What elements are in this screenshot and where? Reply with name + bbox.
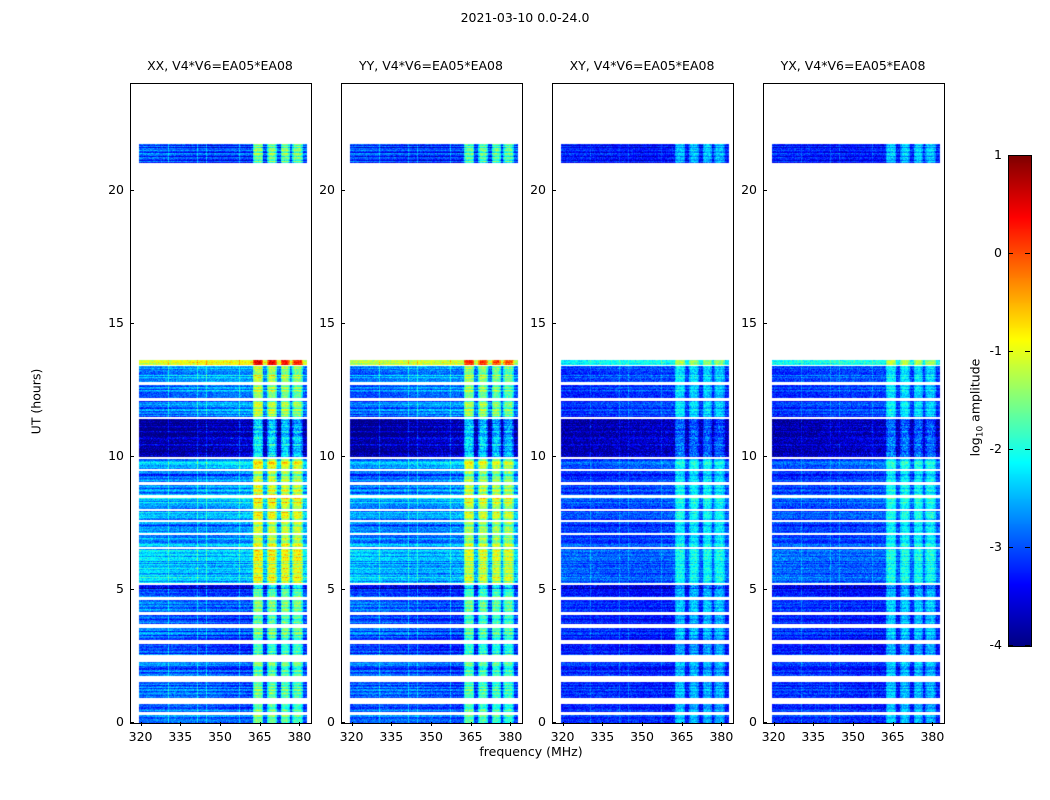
y-tickmark — [552, 722, 556, 723]
x-tick-label: 365 — [240, 729, 280, 744]
colorbar-tickmark — [1008, 253, 1013, 254]
colorbar-label-prefix: log — [968, 437, 983, 456]
y-tickmark — [552, 323, 556, 324]
y-tick-label: 0 — [512, 714, 546, 729]
x-tick-label: 320 — [121, 729, 161, 744]
x-tick-label: 320 — [543, 729, 583, 744]
x-tick-label: 380 — [701, 729, 741, 744]
panel-title-yy: YY, V4*V6=EA05*EA08 — [341, 58, 521, 73]
colorbar-tickmark — [1025, 449, 1030, 450]
x-tickmark — [352, 722, 353, 726]
x-axis-label: frequency (MHz) — [336, 744, 726, 759]
y-tickmark — [341, 589, 345, 590]
colorbar-tick-label: -4 — [966, 637, 1002, 652]
y-tick-label: 0 — [723, 714, 757, 729]
y-tick-label: 15 — [301, 315, 335, 330]
colorbar-tickmark — [1025, 253, 1030, 254]
heatmap-panel-yy[interactable] — [341, 83, 523, 724]
y-tickmark — [130, 190, 134, 191]
x-tickmark — [774, 722, 775, 726]
colorbar-tickmark — [1008, 449, 1013, 450]
colorbar-tickmark — [1008, 155, 1013, 156]
heatmap-panel-xx[interactable] — [130, 83, 312, 724]
heatmap-image-xx — [131, 84, 311, 723]
y-tick-label: 5 — [301, 581, 335, 596]
y-tick-label: 5 — [723, 581, 757, 596]
x-tick-label: 365 — [451, 729, 491, 744]
panel-title-xy: XY, V4*V6=EA05*EA08 — [552, 58, 732, 73]
x-tickmark — [141, 722, 142, 726]
y-axis-label: UT (hours) — [29, 342, 44, 462]
heatmap-image-xy — [553, 84, 733, 723]
y-tickmark — [763, 722, 767, 723]
y-tickmark — [130, 589, 134, 590]
x-tick-label: 335 — [160, 729, 200, 744]
y-tickmark — [130, 456, 134, 457]
y-tickmark — [341, 323, 345, 324]
x-tick-label: 350 — [833, 729, 873, 744]
colorbar-label: log10 amplitude — [968, 328, 983, 488]
x-tickmark — [853, 722, 854, 726]
x-tickmark — [180, 722, 181, 726]
y-tickmark — [341, 456, 345, 457]
colorbar-tickmark — [1025, 645, 1030, 646]
x-tick-label: 335 — [793, 729, 833, 744]
y-tick-label: 0 — [301, 714, 335, 729]
colorbar-tick-label: 0 — [966, 245, 1002, 260]
heatmap-panel-yx[interactable] — [763, 83, 945, 724]
y-tick-label: 20 — [723, 182, 757, 197]
x-tick-label: 320 — [754, 729, 794, 744]
x-tickmark — [813, 722, 814, 726]
y-tick-label: 15 — [512, 315, 546, 330]
x-tickmark — [932, 722, 933, 726]
colorbar-tickmark — [1025, 351, 1030, 352]
x-tickmark — [431, 722, 432, 726]
colorbar-gradient — [1009, 156, 1031, 646]
y-tick-label: 15 — [90, 315, 124, 330]
colorbar-tickmark — [1008, 351, 1013, 352]
x-tickmark — [220, 722, 221, 726]
y-tickmark — [763, 456, 767, 457]
y-tickmark — [763, 323, 767, 324]
figure-suptitle: 2021-03-10 0.0-24.0 — [0, 10, 1050, 25]
colorbar-label-suffix: amplitude — [968, 359, 983, 426]
x-tickmark — [602, 722, 603, 726]
heatmap-image-yx — [764, 84, 944, 723]
heatmap-panel-xy[interactable] — [552, 83, 734, 724]
y-tick-label: 20 — [301, 182, 335, 197]
y-tickmark — [341, 722, 345, 723]
x-tick-label: 365 — [873, 729, 913, 744]
y-tick-label: 20 — [512, 182, 546, 197]
colorbar-tick-label: -3 — [966, 539, 1002, 554]
x-tick-label: 320 — [332, 729, 372, 744]
panel-title-xx: XX, V4*V6=EA05*EA08 — [130, 58, 310, 73]
y-tick-label: 20 — [90, 182, 124, 197]
x-tick-label: 350 — [622, 729, 662, 744]
x-tickmark — [893, 722, 894, 726]
heatmap-image-yy — [342, 84, 522, 723]
y-tickmark — [130, 323, 134, 324]
x-tick-label: 365 — [662, 729, 702, 744]
colorbar[interactable] — [1008, 155, 1032, 647]
colorbar-tickmark — [1025, 547, 1030, 548]
y-tickmark — [763, 589, 767, 590]
x-tick-label: 350 — [411, 729, 451, 744]
x-tick-label: 335 — [371, 729, 411, 744]
y-tickmark — [552, 456, 556, 457]
x-tickmark — [391, 722, 392, 726]
y-tick-label: 10 — [90, 448, 124, 463]
y-tickmark — [552, 190, 556, 191]
x-tick-label: 350 — [200, 729, 240, 744]
x-tickmark — [682, 722, 683, 726]
y-tick-label: 5 — [512, 581, 546, 596]
colorbar-label-sub: 10 — [975, 426, 985, 437]
y-tick-label: 0 — [90, 714, 124, 729]
y-tick-label: 5 — [90, 581, 124, 596]
y-tickmark — [130, 722, 134, 723]
y-tick-label: 10 — [301, 448, 335, 463]
x-tick-label: 380 — [279, 729, 319, 744]
x-tick-label: 335 — [582, 729, 622, 744]
x-tickmark — [642, 722, 643, 726]
x-tickmark — [260, 722, 261, 726]
x-tickmark — [563, 722, 564, 726]
colorbar-tickmark — [1008, 547, 1013, 548]
y-tick-label: 10 — [723, 448, 757, 463]
y-tick-label: 10 — [512, 448, 546, 463]
y-tickmark — [552, 589, 556, 590]
panel-title-yx: YX, V4*V6=EA05*EA08 — [763, 58, 943, 73]
y-tick-label: 15 — [723, 315, 757, 330]
y-tickmark — [763, 190, 767, 191]
x-tick-label: 380 — [912, 729, 952, 744]
figure-canvas: 2021-03-10 0.0-24.0 XX, V4*V6=EA05*EA08 … — [0, 0, 1050, 800]
x-tickmark — [471, 722, 472, 726]
colorbar-tick-label: 1 — [966, 147, 1002, 162]
y-tickmark — [341, 190, 345, 191]
colorbar-tickmark — [1008, 645, 1013, 646]
colorbar-tickmark — [1025, 155, 1030, 156]
x-tick-label: 380 — [490, 729, 530, 744]
